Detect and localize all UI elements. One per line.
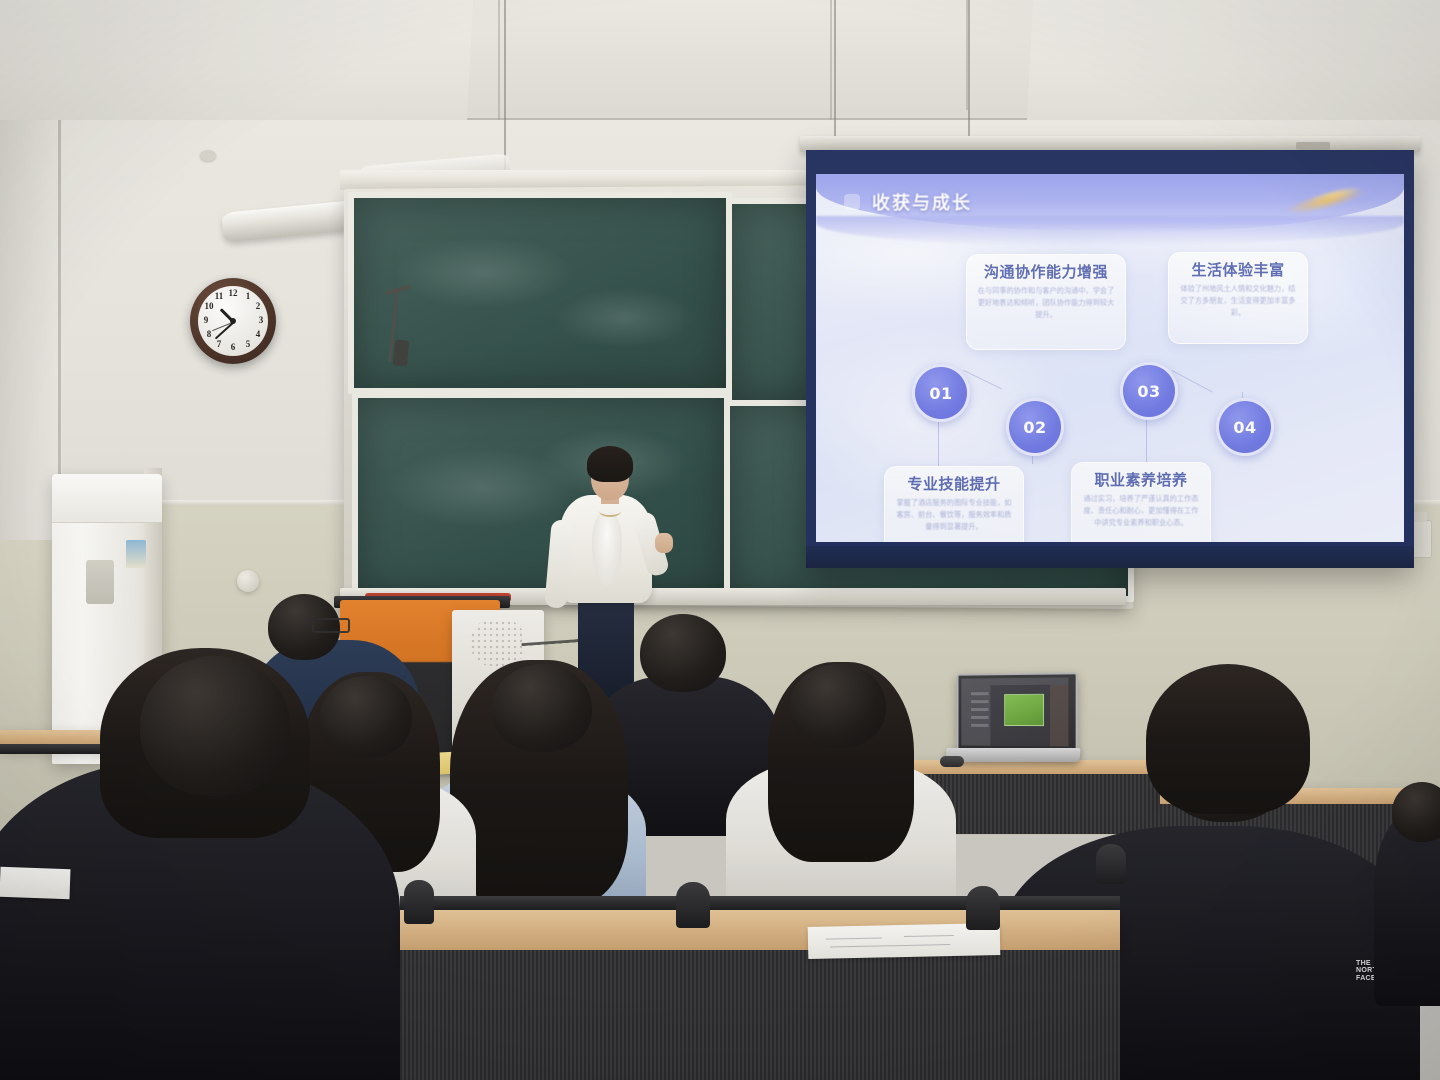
slide-surface[interactable]: 收获与成长 沟通协作能力增强 在与同事的协作和与客户的沟通中，学会了更好地表达和… <box>816 174 1404 542</box>
wall-speaker-knob <box>237 570 259 592</box>
connector-line <box>938 416 939 466</box>
speaker-grill-icon <box>470 620 526 666</box>
ceiling-seam <box>830 0 832 120</box>
slide-card-professional-skill: 专业技能提升 掌握了酒店服务的图际专业技能，如客房、前台、餐饮等，服务效率和质量… <box>884 466 1024 542</box>
desk-surface <box>400 910 1120 954</box>
classroom-photo-scene: 12 1 2 3 4 5 6 7 8 9 10 11 <box>0 0 1440 1080</box>
screen-letterbox-bottom <box>806 546 1414 568</box>
projector-screen[interactable]: 收获与成长 沟通协作能力增强 在与同事的协作和与客户的沟通中，学会了更好地表达和… <box>806 150 1414 568</box>
mouse[interactable] <box>940 756 964 767</box>
clock-face: 12 1 2 3 4 5 6 7 8 9 10 11 <box>198 286 268 356</box>
air-conditioner-top-vent <box>52 474 162 523</box>
pointer-tip <box>393 339 409 366</box>
chair-back <box>676 882 710 928</box>
presenter-right-hand <box>655 533 673 553</box>
clock-numeral: 12 <box>227 289 239 298</box>
clock-center-pin <box>230 318 236 324</box>
connector-line <box>1146 416 1147 464</box>
clock-numeral: 11 <box>213 292 225 301</box>
smoke-detector-icon <box>200 150 216 161</box>
presenter-hair <box>587 446 633 482</box>
ceiling-seam <box>498 0 500 124</box>
clock-numeral: 7 <box>213 340 225 349</box>
card-body: 通过实习，培养了严谨认真的工作态度、责任心和耐心，更加懂得在工作中讲究专业素养和… <box>1082 493 1200 529</box>
clock-numeral: 2 <box>252 302 264 311</box>
presenter-blouse-ruffle <box>592 512 622 586</box>
slide-card-life-experience: 生活体验丰富 体验了州地风土人情和文化魅力，结交了方多朋友，生活变得更加丰富多彩… <box>1168 252 1308 344</box>
air-conditioner-display[interactable] <box>86 560 114 604</box>
card-heading: 专业技能提升 <box>895 475 1013 493</box>
blackboard-panel <box>352 392 730 600</box>
ceiling-beam <box>467 0 1033 120</box>
card-heading: 沟通协作能力增强 <box>977 263 1115 281</box>
air-conditioner-label <box>126 540 146 568</box>
slide-step-badge-01: 01 <box>912 364 970 422</box>
card-body: 体验了州地风土人情和文化魅力，结交了方多朋友，生活变得更加丰富多彩。 <box>1179 283 1297 319</box>
slide-title-accent-icon <box>844 194 860 210</box>
desk-front-panel <box>400 950 1120 1080</box>
chair-back <box>1096 844 1126 884</box>
laptop-screen[interactable] <box>961 677 1068 746</box>
slide-step-badge-04: 04 <box>1216 398 1274 456</box>
brand-line-3: FACE <box>1356 975 1376 982</box>
wall-clock: 12 1 2 3 4 5 6 7 8 9 10 11 <box>190 278 276 364</box>
slide-step-badge-03: 03 <box>1120 362 1178 420</box>
presenter-necklace <box>599 505 621 517</box>
clock-numeral: 9 <box>200 316 212 325</box>
slide-card-communication: 沟通协作能力增强 在与同事的协作和与客户的沟通中，学会了更好地表达和倾听，团队协… <box>966 254 1126 350</box>
card-heading: 职业素养培养 <box>1082 471 1200 489</box>
clock-numeral: 1 <box>242 292 254 301</box>
card-body: 掌握了酒店服务的图际专业技能，如客房、前台、餐饮等，服务效率和质量得到显著提升。 <box>895 497 1013 533</box>
chair-back <box>404 880 434 924</box>
clock-numeral: 4 <box>252 330 264 339</box>
clock-numeral: 5 <box>242 340 254 349</box>
brand-line-1: THE <box>1356 960 1371 967</box>
clock-numeral: 10 <box>203 302 215 311</box>
slide-step-badge-02: 02 <box>1006 398 1064 456</box>
clock-numeral: 8 <box>203 330 215 339</box>
handout-paper[interactable] <box>0 867 71 899</box>
laptop-lid[interactable] <box>957 672 1078 756</box>
projector-screen-rail-cap <box>1296 142 1330 150</box>
clock-numeral: 3 <box>255 316 267 325</box>
slide-title: 收获与成长 <box>872 189 972 215</box>
card-heading: 生活体验丰富 <box>1179 261 1297 279</box>
laptop-slide-thumbnail <box>1004 694 1044 726</box>
laptop-keyboard-base[interactable] <box>946 748 1081 762</box>
chair-back <box>966 886 1000 930</box>
clock-numeral: 6 <box>227 343 239 352</box>
card-body: 在与同事的协作和与客户的沟通中，学会了更好地表达和倾听，团队协作能力得到较大提升… <box>977 285 1115 321</box>
slide-card-professional-quality: 职业素养培养 通过实习，培养了严谨认真的工作态度、责任心和耐心，更加懂得在工作中… <box>1071 462 1211 542</box>
